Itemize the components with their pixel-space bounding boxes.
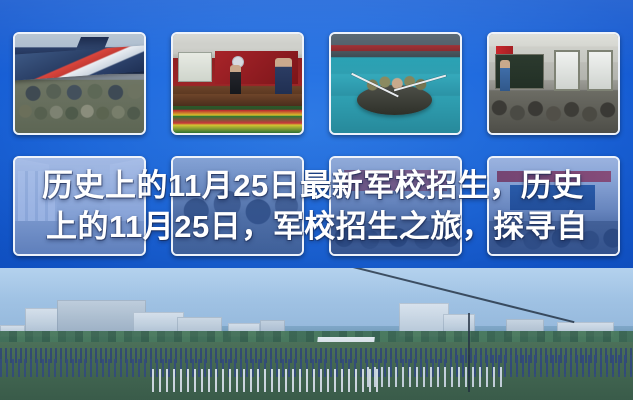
window-shape [587,50,613,92]
thumbnail-conference-hall-red-banner[interactable] [171,32,304,135]
jet-body-shape [15,45,144,81]
desk-shape [173,94,302,106]
headline-line-2: 上的11月25日，军校招生之旅，探寻自 [42,206,633,247]
screenshot-root: 历史上的11月25日最新军校招生，历史 上的11月25日，军校招生之旅，探寻自 [0,0,633,400]
thumbnail-raft-water-training[interactable] [329,32,462,135]
headline-line-1: 历史上的11月25日最新军校招生，历史 [42,165,633,206]
thumbnail-slot [475,32,633,138]
teacher-figure-shape [500,60,510,94]
thumbnail-classroom-lecture[interactable] [487,32,620,135]
speaker-figure-shape [230,65,242,95]
student-figures-shape [489,91,618,133]
headline-overlay: 历史上的11月25日最新军校招生，历史 上的11月25日，军校招生之旅，探寻自 [0,165,633,247]
officer-figure-shape [275,58,292,98]
top-blue-panel: 历史上的11月25日最新军校招生，历史 上的11月25日，军校招生之旅，探寻自 [0,0,633,268]
thumbnail-slot [158,32,316,138]
raft-water-training-icon [331,34,460,133]
conference-hall-red-banner-icon [173,34,302,133]
window-shape [554,50,580,92]
parade-ground-panorama [0,268,633,400]
top-thumbnail-row [0,32,633,138]
thumbnail-slot [317,32,475,138]
thumbnail-fighter-jet-group-photo[interactable] [13,32,146,135]
crane-mast-shape [468,313,470,392]
projection-screen-shape [178,52,212,82]
classroom-lecture-icon [489,34,618,133]
thumbnail-slot [0,32,158,138]
fighter-jet-group-photo-icon [15,34,144,133]
